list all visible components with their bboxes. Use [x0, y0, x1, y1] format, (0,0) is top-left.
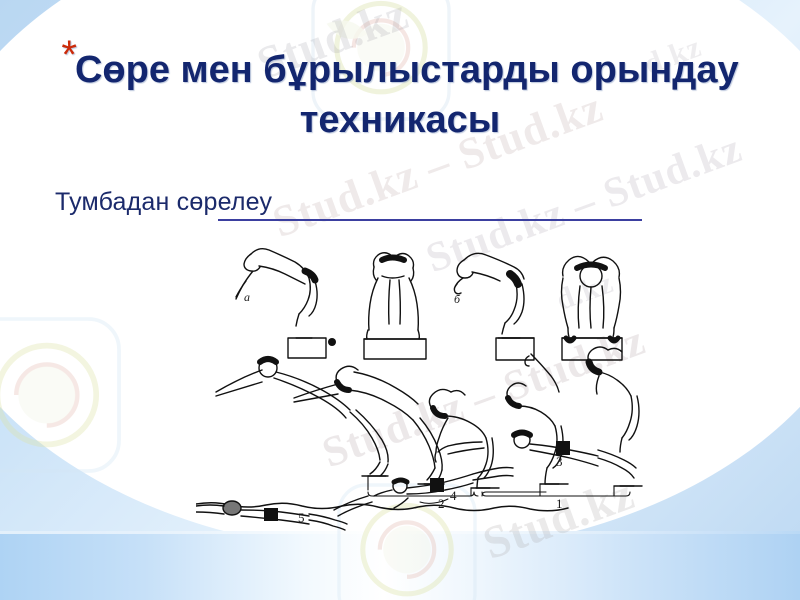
diagram-label-b: б [454, 292, 460, 307]
diagram-bracket-label-2: 2 [438, 496, 445, 512]
diagram-bracket-label-1: 1 [556, 496, 563, 512]
diagram-phase-label-3: 3 [556, 454, 563, 470]
page-title-text: Сөре мен бұрылыстарды орындау техникасы [75, 49, 739, 141]
subtitle-underline-rule [218, 219, 642, 221]
swimming-start-technique-diagram: а б 2 1 3 4 5 [196, 226, 646, 532]
diagram-label-a: а [244, 290, 250, 305]
stud-kz-logo-watermark-icon [0, 300, 138, 490]
page-title: *Сөре мен бұрылыстарды орындау техникасы [28, 30, 772, 145]
diagram-phase-label-5: 5 [298, 510, 305, 526]
subtitle-text: Тумбадан сөрелеу [55, 188, 272, 217]
diagram-phase-label-4: 4 [450, 488, 457, 504]
diagram-illustration-icon [196, 226, 646, 532]
slide-canvas: Stud.kz Stud.kz – Stud.kz Stud.kz – Stud… [0, 0, 800, 600]
